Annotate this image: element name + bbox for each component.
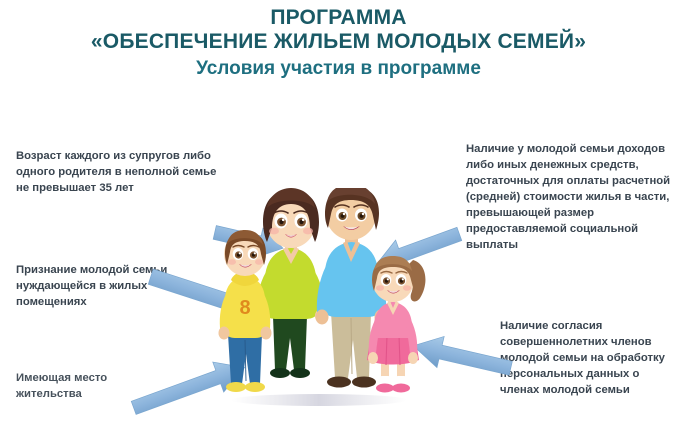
condition-income-text: Наличие у молодой семьи доходов либо ины… <box>466 141 671 253</box>
page-title: ПРОГРАММА «ОБЕСПЕЧЕНИЕ ЖИЛЬЕМ МОЛОДЫХ СЕ… <box>0 6 677 80</box>
title-line-1: ПРОГРАММА <box>0 6 677 30</box>
figure-mother <box>254 188 327 378</box>
title-line-2: «ОБЕСПЕЧЕНИЕ ЖИЛЬЕМ МОЛОДЫХ СЕМЕЙ» <box>0 30 677 54</box>
condition-residence-text: Имеющая место жительства <box>16 370 176 402</box>
figure-girl <box>367 256 425 393</box>
condition-age-text: Возраст каждого из супругов либо одного … <box>16 148 221 196</box>
page-subtitle: Условия участия в программе <box>0 58 677 80</box>
condition-consent-text: Наличие согласия совершеннолетних членов… <box>500 318 675 398</box>
figure-boy: 8 <box>219 230 272 392</box>
family-of-four-illustration: 8 <box>215 188 427 410</box>
condition-need-housing-text: Признание молодой семьи нуждающейся в жи… <box>16 262 191 310</box>
svg-text:8: 8 <box>239 297 250 319</box>
